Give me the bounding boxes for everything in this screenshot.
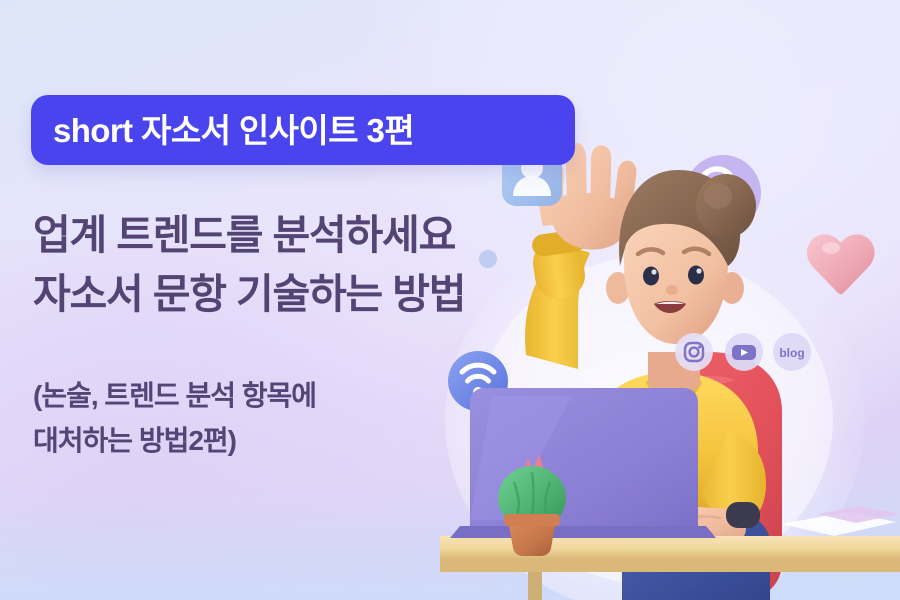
badge-label: short 자소서 인사이트 3편 bbox=[31, 114, 414, 147]
text-content: short 자소서 인사이트 3편 업계 트렌드를 분석하세요 자소서 문항 기… bbox=[0, 0, 620, 600]
svg-text:blog: blog bbox=[779, 346, 804, 360]
subtitle-line-1: (논술, 트렌드 분석 항목에 bbox=[33, 373, 316, 418]
badge-pill: short 자소서 인사이트 3편 bbox=[31, 95, 575, 165]
subtitle-line-2: 대처하는 방법2편) bbox=[33, 418, 316, 463]
heart-icon bbox=[807, 234, 875, 294]
banner-stage: blog short 자소서 인사이트 3편 업계 트렌드를 분석하세요 자소서… bbox=[0, 0, 900, 600]
headline-line-1: 업계 트렌드를 분석하세요 bbox=[33, 206, 465, 265]
instagram-icon bbox=[675, 333, 713, 371]
subtitle: (논술, 트렌드 분석 항목에 대처하는 방법2편) bbox=[33, 373, 316, 464]
youtube-icon bbox=[725, 333, 763, 371]
headline-line-2: 자소서 문항 기술하는 방법 bbox=[33, 265, 465, 324]
blog-icon: blog bbox=[773, 333, 811, 371]
page-title: 업계 트렌드를 분석하세요 자소서 문항 기술하는 방법 bbox=[33, 206, 465, 325]
